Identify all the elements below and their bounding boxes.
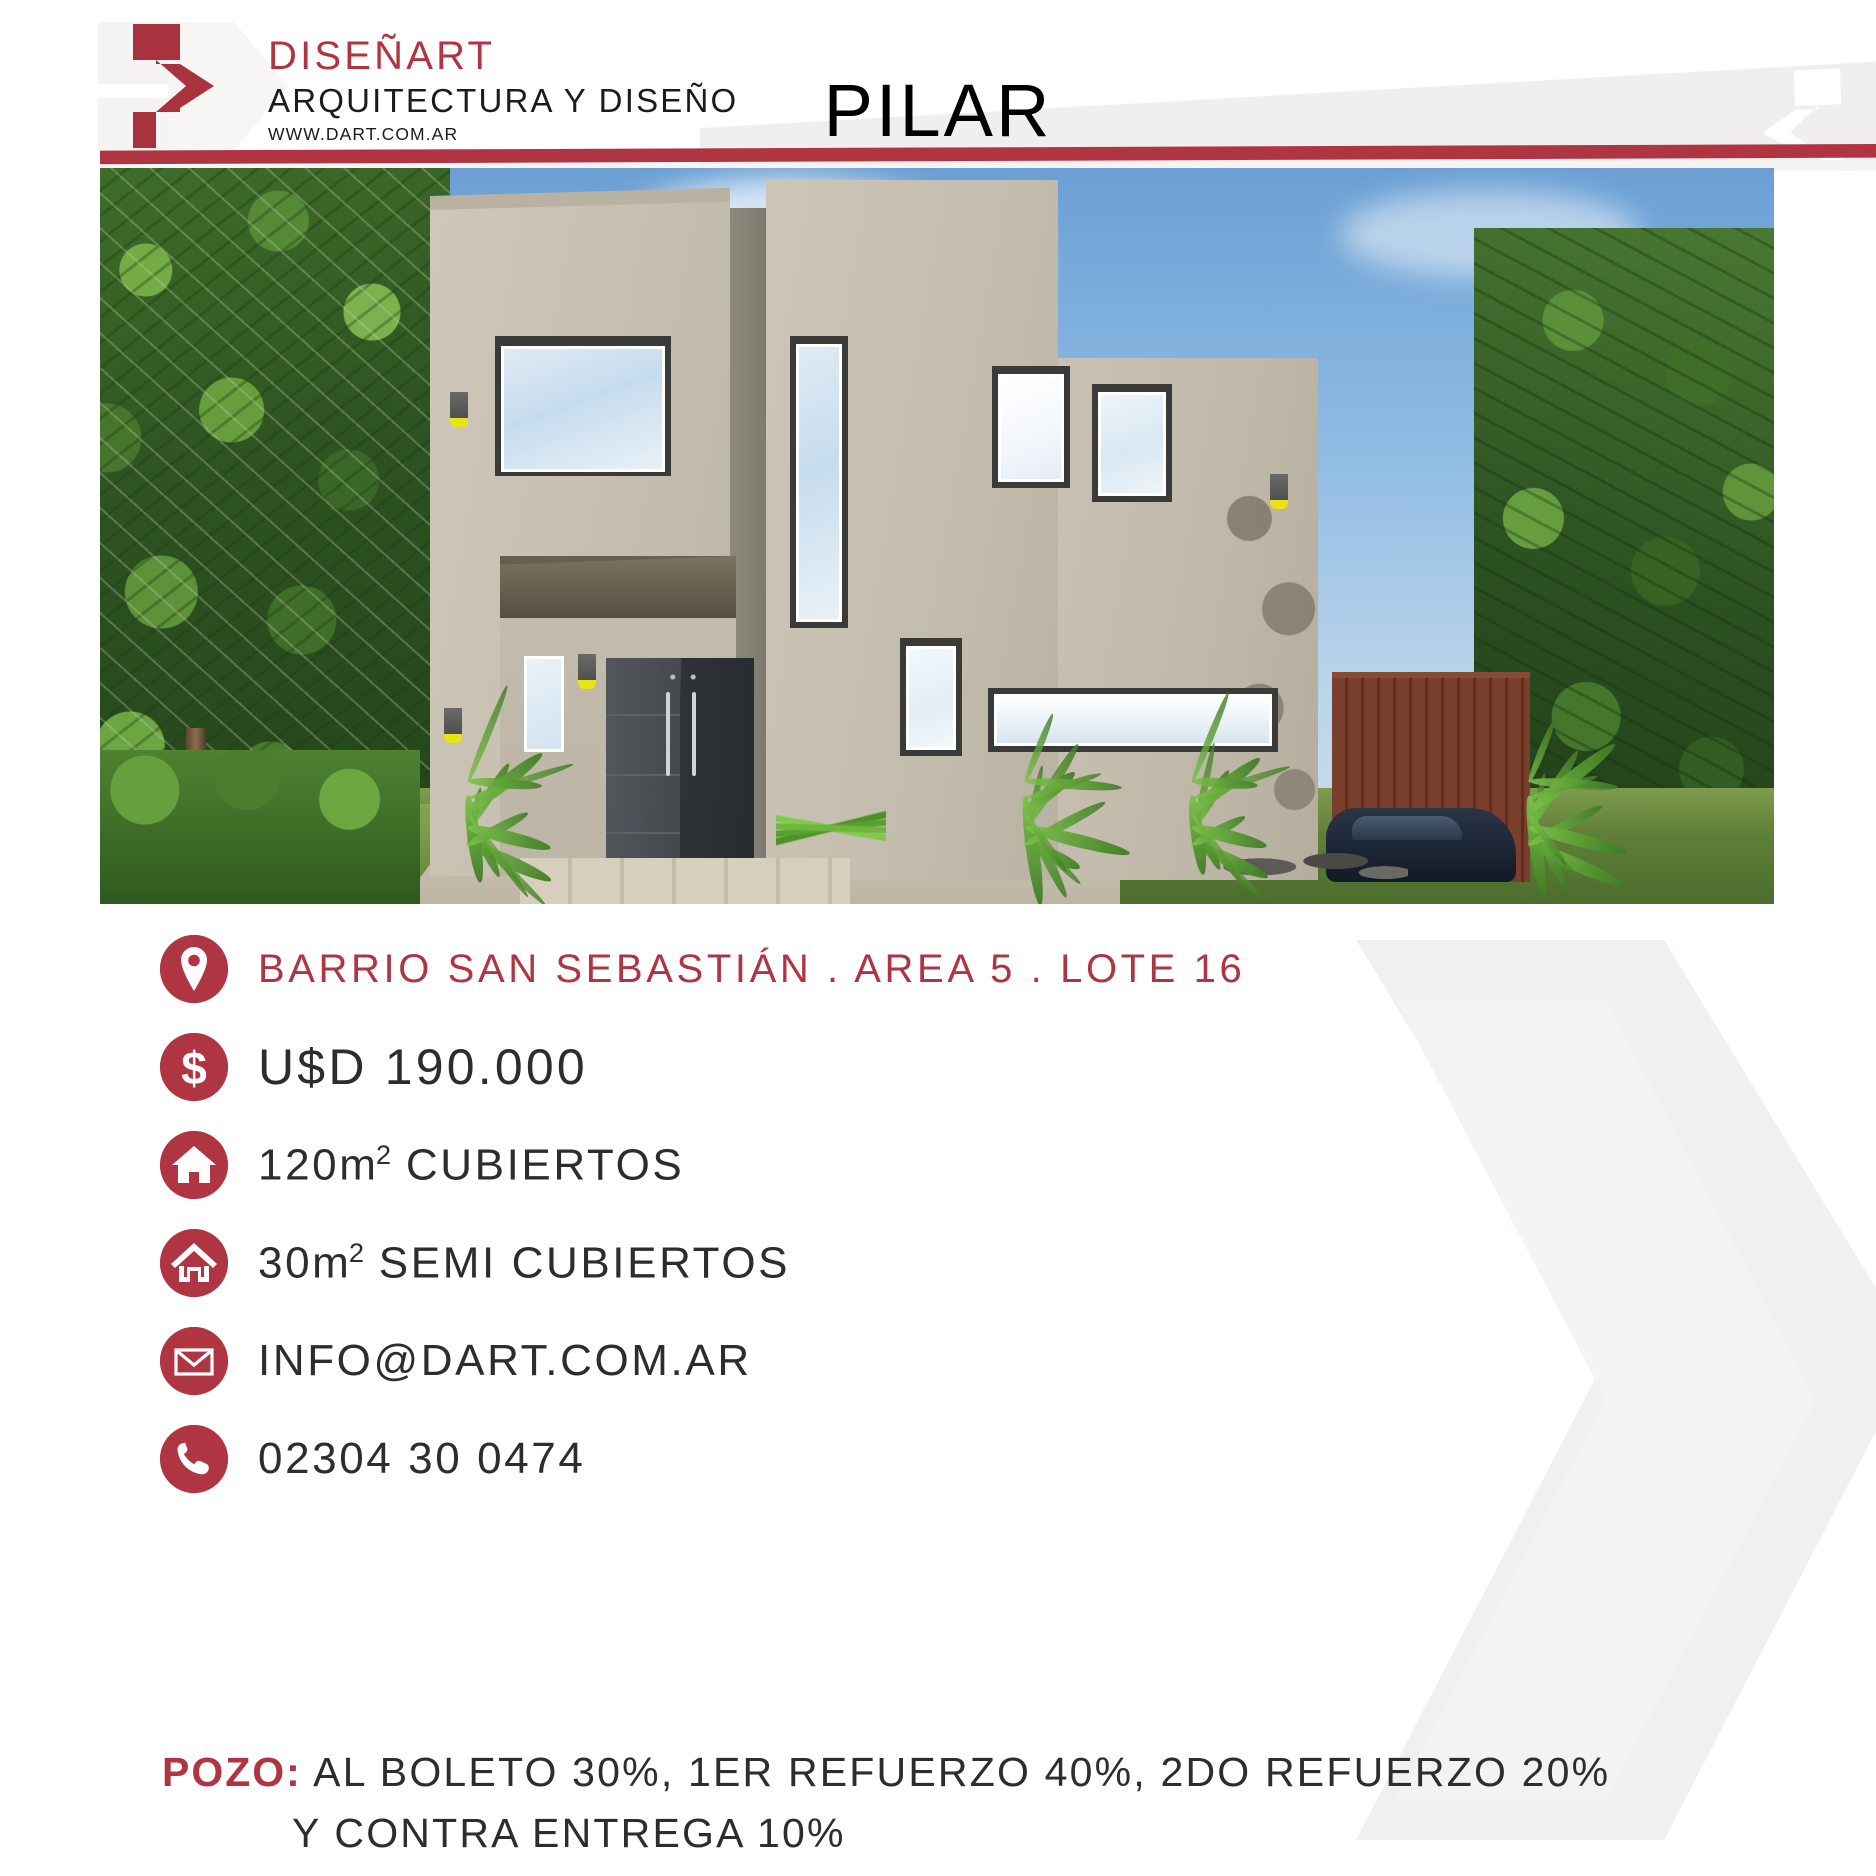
- page-title: PILAR: [0, 74, 1876, 148]
- payment-terms-label: POZO:: [162, 1749, 302, 1795]
- window-upper-right-a: [998, 374, 1064, 482]
- window-upper-left: [501, 346, 665, 472]
- door-handle: [666, 692, 670, 776]
- payment-terms-line-2: Y CONTRA ENTREGA 10%: [162, 1803, 1722, 1864]
- house-filled-icon: [160, 1131, 228, 1199]
- detail-location-text: BARRIO SAN SEBASTIÁN . AREA 5 . LOTE 16: [258, 947, 1245, 992]
- dollar-sign-icon: $: [160, 1033, 228, 1101]
- palm-plant: [430, 728, 550, 904]
- door-seam: [606, 832, 680, 834]
- palm-plant: [1140, 708, 1330, 904]
- palm-plant: [980, 728, 1150, 904]
- window-tall-slot: [796, 344, 842, 622]
- wall-light-icon: [578, 654, 596, 682]
- house-outline-icon: [160, 1229, 228, 1297]
- envelope-icon: [160, 1327, 228, 1395]
- detail-row-location: BARRIO SAN SEBASTIÁN . AREA 5 . LOTE 16: [0, 920, 1876, 1018]
- detail-price-text: U$D 190.000: [258, 1038, 588, 1096]
- window-upper-right-b: [1098, 392, 1166, 496]
- door-lock-plate: [666, 674, 700, 680]
- door-handle: [692, 692, 696, 776]
- wall-light-icon: [1270, 474, 1288, 502]
- location-pin-icon: [160, 935, 228, 1003]
- svg-text:$: $: [181, 1042, 207, 1094]
- hedge-left: [100, 750, 420, 904]
- flyer-canvas: DISEÑART ARQUITECTURA Y DISEÑO WWW.DART.…: [0, 0, 1876, 1876]
- detail-row-covered-area: 120m2 CUBIERTOS: [0, 1116, 1876, 1214]
- palm-plant: [1490, 724, 1690, 904]
- payment-terms-text-1: AL BOLETO 30%, 1ER REFUERZO 40%, 2DO REF…: [313, 1749, 1610, 1795]
- detail-semicovered-area-text: 30m2 SEMI CUBIERTOS: [258, 1237, 790, 1289]
- porch-soffit: [500, 556, 736, 618]
- detail-phone-text[interactable]: 02304 30 0474: [258, 1434, 585, 1484]
- brand-name: DISEÑART: [268, 36, 738, 76]
- window-lower-center: [906, 646, 956, 750]
- detail-row-semicovered-area: 30m2 SEMI CUBIERTOS: [0, 1214, 1876, 1312]
- detail-row-email: INFO@DART.COM.AR: [0, 1312, 1876, 1410]
- detail-row-price: $ U$D 190.000: [0, 1018, 1876, 1116]
- detail-row-phone: 02304 30 0474: [0, 1410, 1876, 1508]
- hero-render-image: [100, 168, 1774, 904]
- detail-covered-area-text: 120m2 CUBIERTOS: [258, 1139, 684, 1191]
- payment-terms-line-1: POZO: AL BOLETO 30%, 1ER REFUERZO 40%, 2…: [162, 1742, 1722, 1803]
- property-details-list: BARRIO SAN SEBASTIÁN . AREA 5 . LOTE 16 …: [0, 920, 1876, 1508]
- detail-email-text[interactable]: INFO@DART.COM.AR: [258, 1336, 752, 1386]
- wall-light-icon: [450, 392, 468, 420]
- phone-icon: [160, 1425, 228, 1493]
- payment-terms: POZO: AL BOLETO 30%, 1ER REFUERZO 40%, 2…: [162, 1742, 1722, 1863]
